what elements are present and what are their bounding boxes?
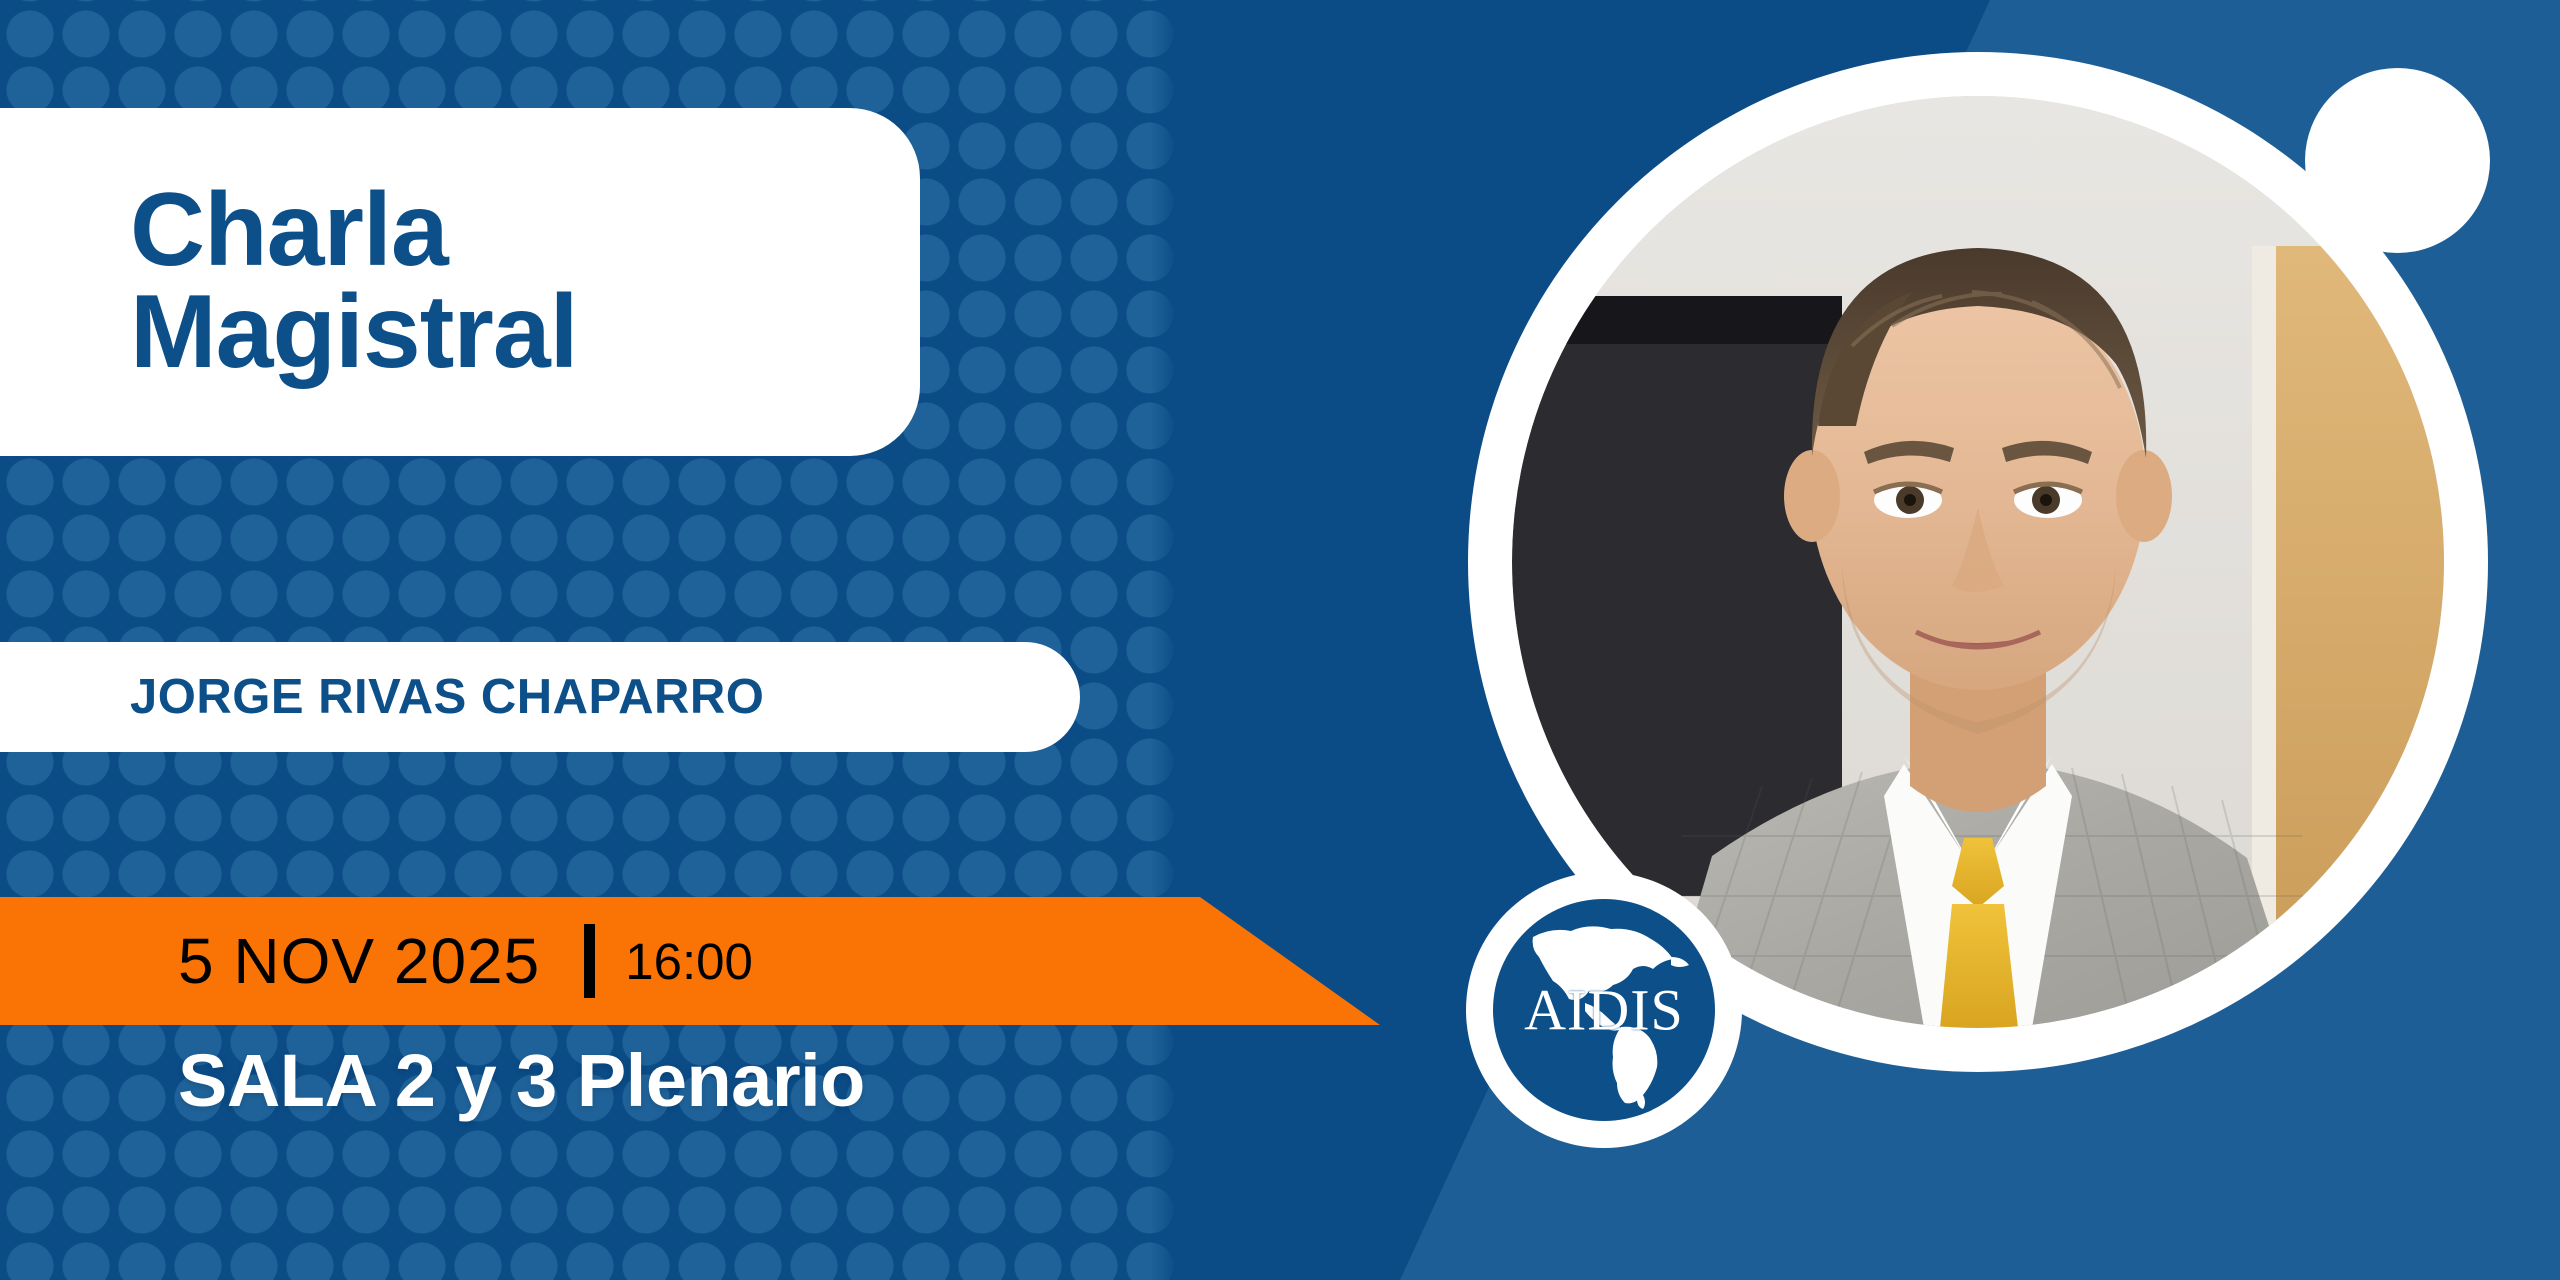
speaker-name: JORGE RIVAS CHAPARRO <box>130 669 764 725</box>
date-time-band: 5 NOV 2025 16:00 <box>0 897 1400 1025</box>
speaker-name-panel: JORGE RIVAS CHAPARRO <box>0 642 1080 752</box>
date-time-group: 5 NOV 2025 16:00 <box>178 924 753 998</box>
circle-accent-icon <box>2305 68 2490 253</box>
event-date: 5 NOV 2025 <box>178 924 540 998</box>
aidis-logo: AIDIS <box>1466 872 1742 1148</box>
aidis-logo-text: AIDIS <box>1493 977 1715 1044</box>
event-room: SALA 2 y 3 Plenario <box>178 1038 865 1123</box>
page-title: Charla Magistral <box>130 180 578 384</box>
event-announcement-banner: Charla Magistral JORGE RIVAS CHAPARRO 5 … <box>0 0 2560 1280</box>
date-time-divider <box>584 924 595 998</box>
event-time: 16:00 <box>625 932 753 991</box>
globe-americas-icon: AIDIS <box>1493 899 1715 1121</box>
title-panel: Charla Magistral <box>0 108 920 456</box>
